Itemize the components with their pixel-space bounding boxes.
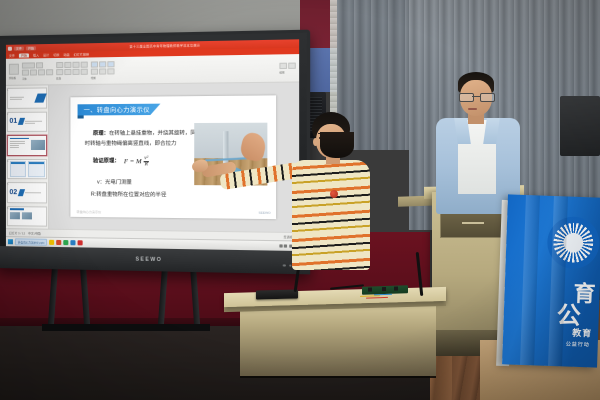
font-family-select[interactable] — [22, 62, 35, 68]
thumbnail-number-1: 1 — [7, 89, 8, 92]
ribbon-group-drawing[interactable]: 绘图 — [91, 61, 115, 80]
slide-thumbnail-panel[interactable]: 1 2 01 — [6, 85, 49, 228]
ribbon-tab-file[interactable]: 文件 — [9, 54, 15, 58]
slide-line1-text: 在转轴上悬挂重物，并绕其旋转，同 — [109, 130, 196, 136]
align-right-button[interactable] — [72, 69, 79, 75]
thumbnail-number-3: 3 — [7, 136, 8, 139]
ribbon-group-editing[interactable]: 编辑 — [279, 62, 295, 74]
presenter-student — [268, 112, 378, 302]
ribbon-tab-design[interactable]: 设计 — [43, 53, 49, 57]
formula-denominator: R — [143, 162, 149, 167]
slide-formula-label: 验证原理： — [93, 157, 120, 166]
board-brand-label: SEEWO — [135, 256, 162, 263]
ribbon-group-label-paragraph: 段落 — [56, 76, 88, 80]
slide-line5-text: R:转盘重物所在位置对应的半径 — [91, 192, 166, 199]
ribbon-group-paragraph[interactable]: 段落 — [56, 62, 88, 81]
replace-button[interactable] — [288, 62, 296, 68]
bold-button[interactable] — [22, 70, 29, 76]
thumbnail-number-6: 6 — [7, 207, 8, 210]
browser-icon[interactable] — [64, 240, 69, 245]
taskbar-window-chip[interactable]: 转盘向心力演示仪.pptx — [15, 238, 48, 246]
justify-button[interactable] — [81, 69, 88, 75]
presenter-striped-shirt — [292, 160, 370, 270]
board-display[interactable]: 文件 开始 第十三届全国高中青年物理教师教学基本功展示 文件 开始 插入 设计 … — [6, 39, 299, 251]
template-logo-icon — [34, 93, 46, 102]
shape-gallery-button[interactable] — [91, 61, 98, 67]
slide-banner-tail — [78, 115, 84, 118]
thumbnail-badge-01: 01 — [9, 118, 17, 125]
status-slide-indicator: 幻灯片 3 / 12 — [9, 231, 25, 235]
ribbon-toolbar[interactable]: 剪贴板 字体 段落 绘图 — [6, 54, 299, 86]
thumbnail-card-right — [28, 161, 45, 177]
find-button[interactable] — [279, 62, 287, 68]
ppt-workspace: 1 2 01 — [6, 82, 299, 232]
shape-fill-button[interactable] — [99, 61, 106, 67]
formula-fraction: v² R — [143, 156, 149, 167]
indent-button[interactable] — [72, 62, 79, 68]
assistant-mouth — [468, 108, 477, 110]
thumbnail-number-2: 2 — [7, 112, 8, 115]
media-player-icon[interactable] — [71, 240, 76, 245]
slide-thumbnail-2[interactable]: 2 01 — [7, 111, 47, 132]
font-color-button[interactable] — [46, 69, 53, 75]
assistant-glasses-icon — [459, 93, 493, 100]
titlebar-tab-0[interactable]: 文件 — [14, 46, 24, 50]
start-button-icon[interactable] — [8, 239, 13, 244]
classroom-photo-scene: 文件 开始 第十三届全国高中青年物理教师教学基本功展示 文件 开始 插入 设计 … — [0, 0, 600, 400]
thumbnail-title-bar — [9, 137, 28, 139]
align-left-button[interactable] — [56, 69, 63, 75]
status-language[interactable]: 中文(中国) — [28, 231, 41, 235]
ribbon-group-clipboard[interactable]: 剪贴板 — [9, 64, 19, 80]
board-stand — [42, 262, 210, 334]
thumbnail-photo — [30, 140, 44, 150]
formula-lhs: F — [124, 158, 128, 165]
slide-thumbnail-6[interactable]: 6 — [7, 206, 47, 227]
slide-thumbnail-3-selected[interactable]: 3 — [7, 135, 47, 156]
presenter-ear — [313, 138, 318, 146]
arrange-button[interactable] — [91, 69, 98, 75]
slide-thumbnail-4[interactable]: 4 — [7, 159, 47, 180]
ribbon-group-font[interactable]: 字体 — [22, 62, 53, 81]
ribbon-group-label-drawing: 绘图 — [91, 75, 115, 79]
slide-thumbnail-1[interactable]: 1 — [7, 87, 47, 108]
chip-2 — [382, 287, 386, 291]
slide-line4-text: v：光电门测量 — [97, 179, 132, 185]
slide-line2-text: 时转轴与重物绳偏离竖直线，即合拉力 — [85, 141, 177, 147]
banner-fine-text: 公益行动 — [566, 343, 590, 349]
presenter-badge — [330, 190, 338, 198]
slide-footer-note: 转盘向心力演示仪 — [77, 210, 102, 214]
current-slide[interactable]: 一、转盘向心力演示仪 原理：在转轴上悬挂重物，并绕其旋转，同 时转轴与重物绳偏离… — [70, 95, 276, 219]
desk-body — [240, 306, 436, 376]
ribbon-group-label-editing: 编辑 — [279, 69, 295, 73]
slide-line1-label: 原理： — [93, 131, 109, 137]
slide-formula: F = M v² R — [124, 156, 149, 167]
ribbon-tab-slideshow[interactable]: 幻灯片放映 — [74, 52, 89, 56]
paste-button[interactable] — [9, 64, 19, 75]
slide-thumbnail-5[interactable]: 5 02 — [7, 182, 47, 203]
ribbon-group-label-clipboard: 剪贴板 — [9, 76, 19, 80]
banner-subtext: 教育 — [572, 329, 592, 339]
thumbnail-card-left — [9, 161, 26, 177]
italic-button[interactable] — [30, 69, 37, 75]
thumbnail-badge-02: 02 — [9, 189, 17, 196]
shape-outline-button[interactable] — [107, 61, 114, 67]
slide-title-banner: 一、转盘向心力演示仪 — [78, 104, 161, 116]
bullets-button[interactable] — [56, 62, 63, 68]
font-size-select[interactable] — [36, 62, 43, 68]
select-button[interactable] — [107, 68, 114, 74]
ribbon-tab-insert[interactable]: 插入 — [33, 53, 39, 57]
formula-equals: = — [130, 158, 135, 165]
presenter-hair-back — [320, 132, 354, 158]
ribbon-tab-transitions[interactable]: 切换 — [53, 53, 59, 57]
ribbon-tab-animations[interactable]: 动画 — [63, 53, 69, 57]
presentation-window[interactable]: 文件 开始 第十三届全国高中青年物理教师教学基本功展示 文件 开始 插入 设计 … — [6, 39, 299, 251]
thumbnail-number-5: 5 — [7, 183, 8, 186]
thumbnail-number-4: 4 — [7, 160, 8, 163]
numbering-button[interactable] — [64, 62, 71, 68]
line-spacing-button[interactable] — [81, 62, 88, 68]
wps-presentation-icon[interactable] — [57, 240, 62, 245]
quick-styles-button[interactable] — [99, 68, 106, 74]
titlebar-tab-1[interactable]: 开始 — [26, 46, 36, 50]
interactive-smart-board[interactable]: 文件 开始 第十三届全国高中青年物理教师教学基本功展示 文件 开始 插入 设计 … — [0, 30, 310, 275]
slide-editing-area[interactable]: 一、转盘向心力演示仪 原理：在转轴上悬挂重物，并绕其旋转，同 时转轴与重物绳偏离… — [49, 82, 299, 232]
ribbon-group-label-font: 字体 — [22, 76, 53, 80]
align-center-button[interactable] — [64, 69, 71, 75]
monitor-rear — [560, 96, 600, 156]
underline-button[interactable] — [38, 69, 45, 75]
ribbon-tab-home[interactable]: 开始 — [19, 53, 29, 57]
explorer-icon[interactable] — [49, 240, 54, 245]
event-banner-flag: 育 公 教育 公益行动 — [502, 194, 600, 367]
chip-3 — [394, 287, 398, 291]
antivirus-icon[interactable] — [78, 240, 83, 245]
formula-coefficient: M — [136, 158, 142, 165]
app-logo-icon — [8, 47, 12, 51]
